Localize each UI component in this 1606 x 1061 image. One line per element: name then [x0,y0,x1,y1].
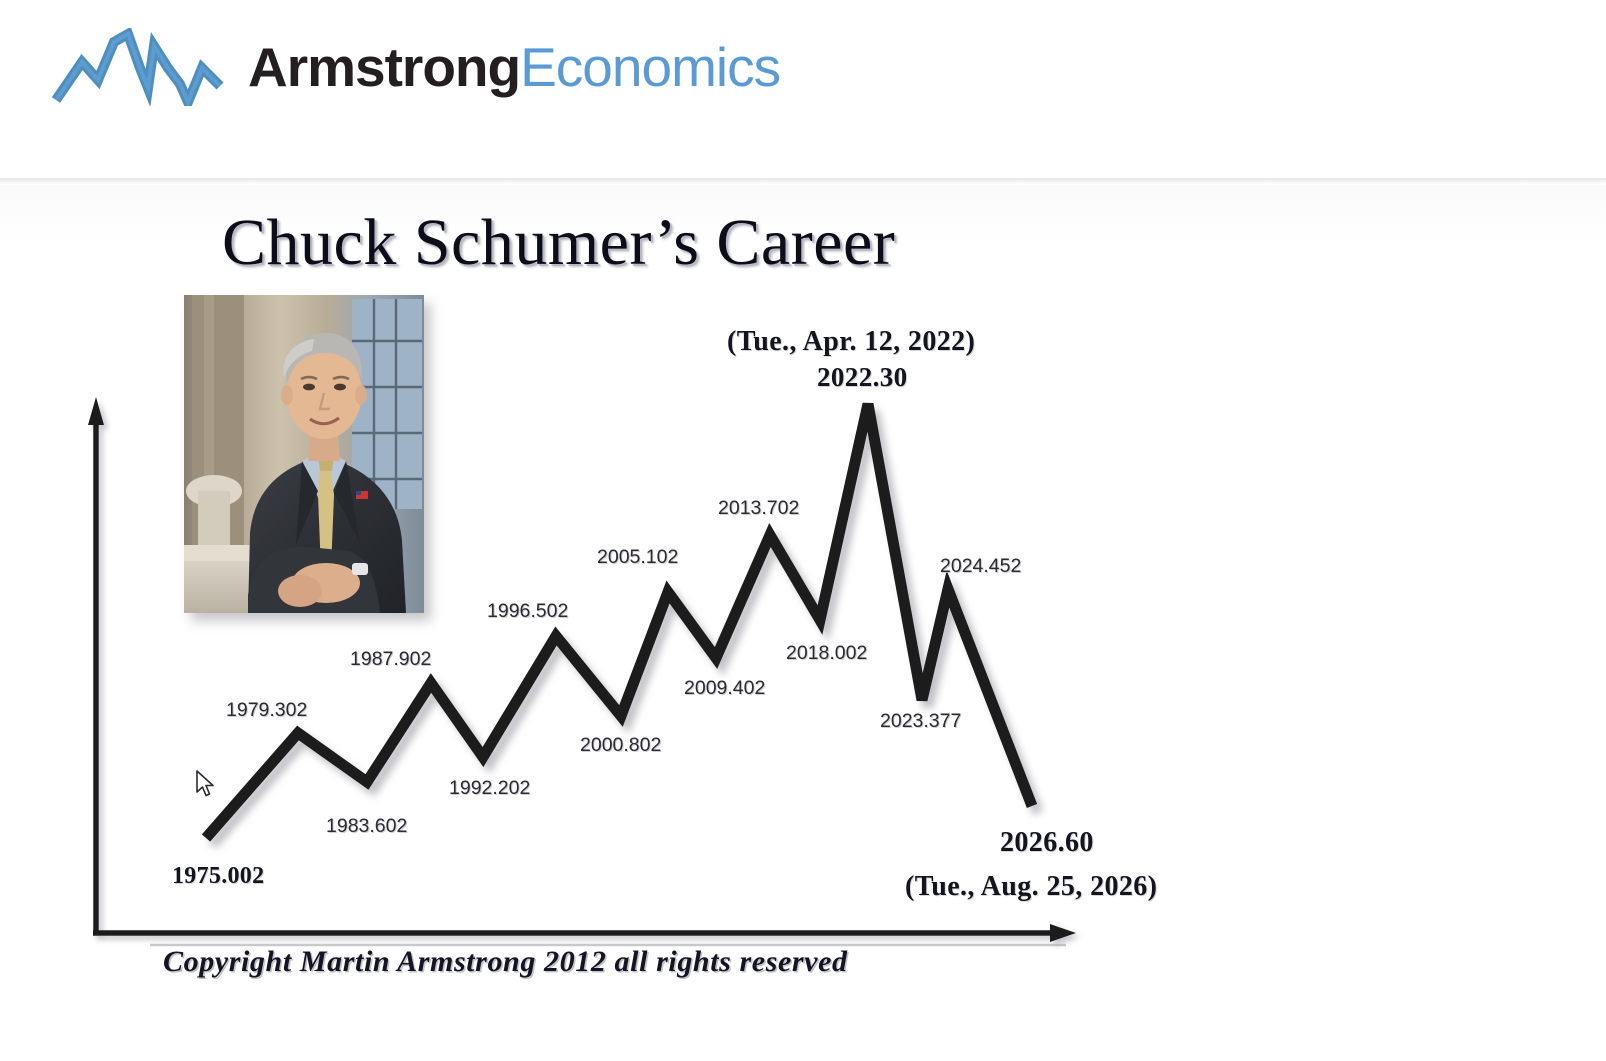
point-label-1983: 1983.602 [326,815,407,838]
y-axis [88,397,104,933]
chart-canvas: Chuck Schumer’s Career [0,185,1606,1061]
brand-name-secondary: Economics [520,36,780,98]
point-label-2005: 2005.102 [597,546,678,569]
point-label-2000: 2000.802 [580,734,661,757]
career-line-chart [0,185,1606,1061]
start-value-annotation: 1975.002 [172,863,264,890]
mouse-pointer-icon [196,770,218,800]
point-label-1987: 1987.902 [350,648,431,671]
copyright-notice: Copyright Martin Armstrong 2012 all righ… [163,945,848,979]
site-logo-text: ArmstrongEconomics [248,40,780,95]
brand-name-primary: Armstrong [248,36,520,98]
point-label-1996: 1996.502 [487,600,568,623]
peak-value-annotation: 2022.30 [817,362,908,393]
site-header: ArmstrongEconomics [0,0,1606,181]
point-label-1992: 1992.202 [449,777,530,800]
end-date-annotation: (Tue., Aug. 25, 2026) [905,871,1157,903]
peak-date-annotation: (Tue., Apr. 12, 2022) [727,326,975,358]
point-label-1979: 1979.302 [226,699,307,722]
point-label-2024: 2024.452 [940,555,1021,578]
point-label-2013: 2013.702 [718,497,799,520]
career-zigzag-line [206,404,1032,838]
header-divider [0,178,1606,185]
point-label-2009: 2009.402 [684,677,765,700]
zigzag-chart-logo-icon [52,28,230,106]
x-axis [93,924,1076,942]
end-value-annotation: 2026.60 [1000,827,1094,859]
point-label-2023: 2023.377 [880,710,961,733]
site-logo[interactable]: ArmstrongEconomics [52,28,780,106]
point-label-2018: 2018.002 [786,642,867,665]
